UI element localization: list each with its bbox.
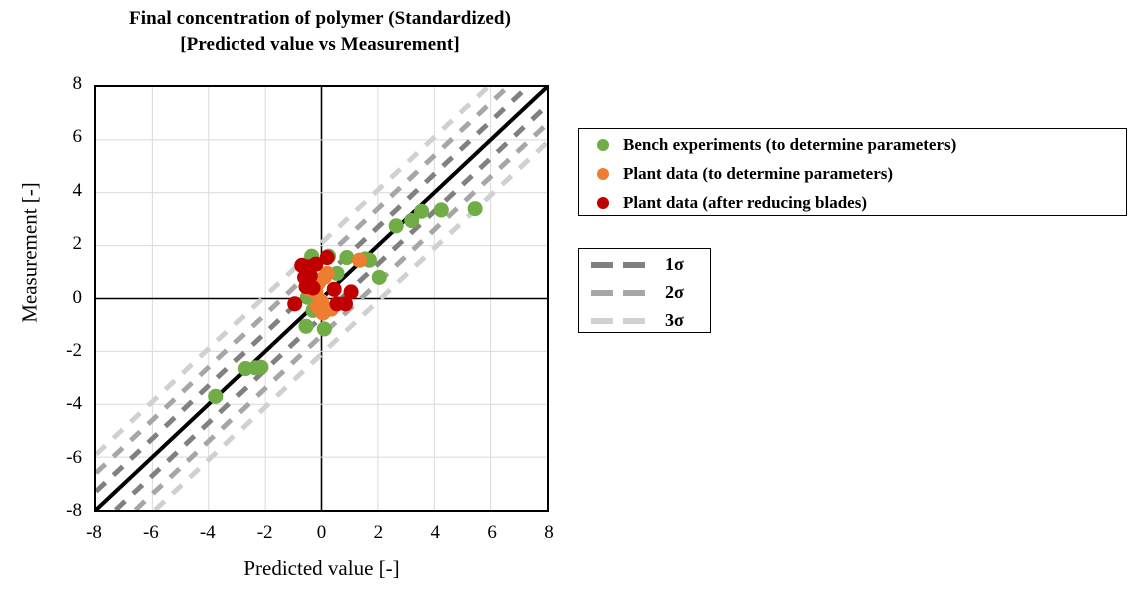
data-point[interactable] (352, 253, 367, 268)
data-point[interactable] (306, 280, 321, 295)
y-tick-label: 0 (46, 287, 82, 309)
x-tick-label: 8 (529, 522, 569, 544)
chart-title: Final concentration of polymer (Standard… (70, 6, 570, 58)
data-point[interactable] (389, 218, 404, 233)
data-point[interactable] (344, 284, 359, 299)
legend-item-label: Plant data (after reducing blades) (623, 193, 867, 213)
x-tick-label: 0 (302, 522, 342, 544)
x-tick-label: -2 (245, 522, 285, 544)
legend-item[interactable]: Bench experiments (to determine paramete… (579, 132, 1126, 158)
data-point[interactable] (414, 204, 429, 219)
legend-marker-icon (597, 197, 609, 209)
legend-item-label: Plant data (to determine parameters) (623, 164, 893, 184)
sigma-legend-item[interactable]: 3σ (579, 308, 710, 333)
data-point[interactable] (317, 321, 332, 336)
sigma-band-minus-2σ (135, 124, 547, 510)
sigma-legend-label: 1σ (665, 254, 684, 275)
y-tick-label: -8 (46, 500, 82, 522)
chart-container: Final concentration of polymer (Standard… (0, 0, 1133, 605)
legend-item-label: Bench experiments (to determine paramete… (623, 135, 956, 155)
data-point[interactable] (253, 360, 268, 375)
chart-title-line-1: Final concentration of polymer (Standard… (70, 6, 570, 32)
x-tick-label: 6 (472, 522, 512, 544)
data-point[interactable] (298, 319, 313, 334)
y-axis-title: Measurement [-] (18, 133, 43, 373)
data-point[interactable] (434, 202, 449, 217)
sigma-band-minus-3σ (155, 143, 547, 510)
y-tick-label: 4 (46, 180, 82, 202)
y-tick-label: 6 (46, 126, 82, 148)
plot-canvas (96, 87, 547, 510)
data-point[interactable] (208, 389, 223, 404)
dashed-line-icon (591, 262, 653, 268)
series-legend: Bench experiments (to determine paramete… (578, 128, 1127, 216)
y-tick-label: 2 (46, 233, 82, 255)
x-tick-label: 2 (358, 522, 398, 544)
data-point[interactable] (372, 270, 387, 285)
y-tick-label: -4 (46, 393, 82, 415)
y-tick-label: -6 (46, 447, 82, 469)
dashed-line-icon (591, 318, 653, 324)
chart-title-line-2: [Predicted value vs Measurement] (70, 32, 570, 58)
data-point[interactable] (468, 201, 483, 216)
data-point[interactable] (287, 296, 302, 311)
data-point[interactable] (327, 282, 342, 297)
sigma-legend-item[interactable]: 1σ (579, 252, 710, 277)
legend-marker-icon (597, 139, 609, 151)
sigma-legend-item[interactable]: 2σ (579, 280, 710, 305)
x-axis-title: Predicted value [-] (94, 556, 549, 581)
data-point[interactable] (320, 250, 335, 265)
sigma-legend-label: 3σ (665, 310, 684, 331)
sigma-legend: 1σ2σ3σ (578, 248, 711, 333)
x-tick-label: 4 (415, 522, 455, 544)
legend-item[interactable]: Plant data (after reducing blades) (579, 190, 1126, 216)
plot-area (94, 85, 549, 512)
sigma-legend-label: 2σ (665, 282, 684, 303)
x-tick-label: -6 (131, 522, 171, 544)
legend-item[interactable]: Plant data (to determine parameters) (579, 161, 1126, 187)
x-tick-label: -4 (188, 522, 228, 544)
y-tick-label: -2 (46, 340, 82, 362)
sigma-band-plus-3σ (96, 87, 488, 454)
legend-marker-icon (597, 168, 609, 180)
data-point[interactable] (339, 250, 354, 265)
x-tick-label: -8 (74, 522, 114, 544)
y-tick-label: 8 (46, 73, 82, 95)
dashed-line-icon (591, 290, 653, 296)
